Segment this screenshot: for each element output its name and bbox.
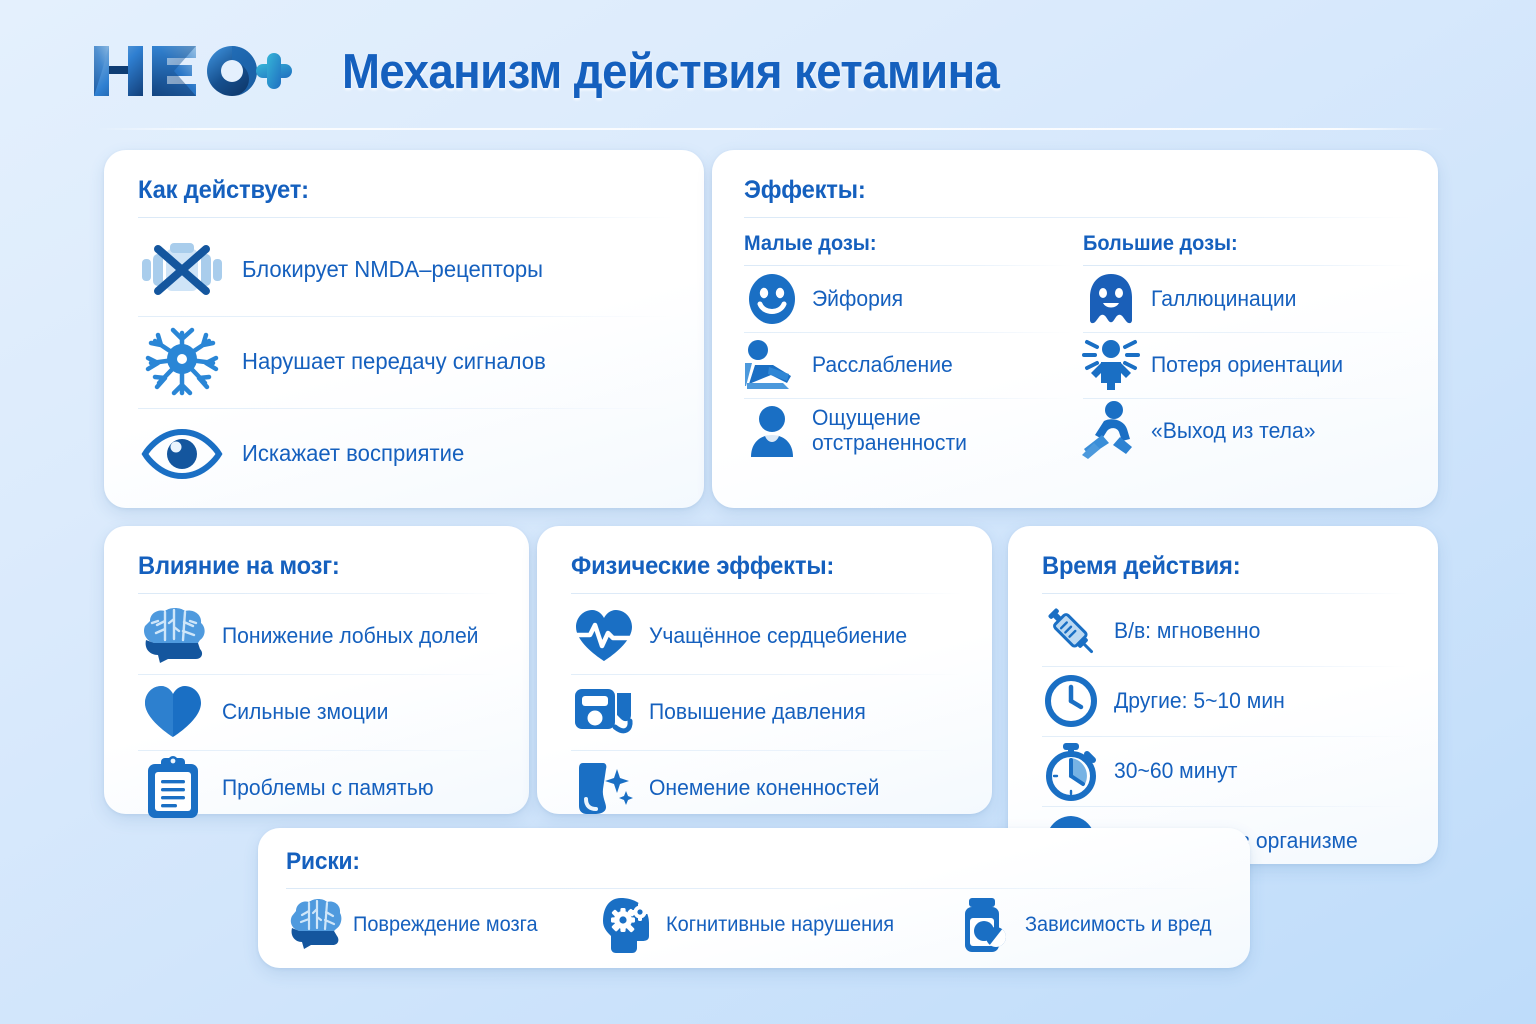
list-item-label: 30~60 минут	[1114, 759, 1237, 784]
divider	[138, 593, 499, 594]
list-item-label: Ощущение отстраненности	[812, 406, 967, 455]
card-risks: Риски: Повреждение мозга	[258, 828, 1250, 968]
list-item-label: Когнитивные нарушения	[666, 913, 894, 937]
brand-logo	[92, 40, 292, 102]
column-high-doses: Большие дозы: Галлюцинации	[1083, 232, 1412, 464]
person-silhouette-icon	[744, 403, 800, 459]
foot-tingling-icon	[571, 759, 637, 817]
list-item-label: Блокирует NMDA–рецепторы	[242, 257, 543, 283]
brain-damage-icon	[286, 897, 342, 953]
eye-icon	[138, 422, 226, 486]
list-item-label: Сильные змоции	[222, 700, 388, 725]
divider	[286, 888, 1224, 889]
neo-plus-logo-icon	[92, 40, 292, 102]
list-item: Сильные змоции	[138, 674, 499, 750]
list-item-label: «Выход из тела»	[1151, 419, 1315, 444]
card-title-effects: Эффекты:	[744, 176, 1379, 205]
card-title-duration: Время действия:	[1042, 552, 1390, 581]
list-item: Блокирует NMDA–рецепторы	[138, 224, 674, 316]
list-item: Ощущение отстраненности	[744, 398, 1073, 464]
list-item-label: Галлюцинации	[1151, 287, 1296, 312]
list-item: Повышение давления	[571, 674, 962, 750]
page-title: Механизм действия кетамина	[342, 44, 999, 100]
list-item: Проблемы с памятью	[138, 750, 499, 826]
person-floating-icon	[1083, 403, 1139, 459]
list-item-label: Повреждение мозга	[353, 913, 538, 937]
page-header: Механизм действия кетамина	[0, 0, 1536, 132]
column-heading-high-doses: Большие дозы:	[1083, 232, 1396, 256]
list-item: Зависимость и вред	[958, 897, 1221, 953]
divider	[1042, 593, 1408, 594]
card-brain-impact: Влияние на мозг: Понижение лобных долей	[104, 526, 529, 814]
list-item-label: Расслабление	[812, 353, 953, 378]
person-dizzy-icon	[1083, 337, 1139, 393]
pill-bottle-icon	[958, 897, 1014, 953]
smiley-face-icon	[744, 271, 800, 327]
column-low-doses: Малые дозы: Эйфория	[744, 232, 1073, 464]
card-title-risks: Риски:	[286, 848, 1177, 876]
clock-icon	[1042, 673, 1100, 729]
ghost-icon	[1083, 271, 1139, 327]
nmda-receptor-blocked-icon	[138, 238, 226, 302]
list-item: Онемение коненностей	[571, 750, 962, 826]
list-item-label: Эйфория	[812, 287, 903, 312]
blood-pressure-monitor-icon	[571, 683, 637, 741]
card-title-physical-effects: Физические эффекты:	[571, 552, 942, 581]
list-item: Потеря ориентации	[1083, 332, 1412, 398]
stopwatch-icon	[1042, 743, 1100, 799]
list-item: 30~60 минут	[1042, 736, 1408, 806]
list-item: Нарушает передачу сигналов	[138, 316, 674, 408]
card-duration: Время действия:	[1008, 526, 1438, 864]
syringe-icon	[1042, 603, 1100, 659]
column-heading-low-doses: Малые дозы:	[744, 232, 1057, 256]
list-item-label: Потеря ориентации	[1151, 353, 1343, 378]
list-item-label: Искажает восприятие	[242, 441, 464, 467]
list-item: Галлюцинации	[1083, 266, 1412, 332]
card-physical-effects: Физические эффекты: Учащённое сердцебиен…	[537, 526, 992, 814]
list-item: Расслабление	[744, 332, 1073, 398]
list-item: Повреждение мозга	[286, 897, 547, 953]
list-item-label: Другие: 5~10 мин	[1114, 689, 1285, 714]
list-item-label: Проблемы с памятью	[222, 776, 434, 801]
card-title-brain-impact: Влияние на мозг:	[138, 552, 481, 581]
divider	[571, 593, 962, 594]
list-item-label: Повышение давления	[649, 700, 866, 725]
list-item: «Выход из тела»	[1083, 398, 1412, 464]
list-item-label: Зависимость и вред	[1025, 913, 1212, 937]
list-item-label: Учащённое сердцебиение	[649, 624, 907, 649]
list-item: Искажает восприятие	[138, 408, 674, 500]
brain-icon	[138, 606, 208, 666]
header-divider	[96, 128, 1446, 130]
list-item: Понижение лобных долей	[138, 598, 499, 674]
heart-pulse-icon	[571, 607, 637, 665]
list-item-label: Онемение коненностей	[649, 776, 879, 801]
list-item: Учащённое сердцебиение	[571, 598, 962, 674]
clipboard-icon	[138, 758, 208, 818]
list-item: Эйфория	[744, 266, 1073, 332]
divider	[744, 217, 1412, 218]
list-item-label: Понижение лобных долей	[222, 624, 478, 649]
heart-icon	[138, 682, 208, 742]
person-reclining-icon	[744, 337, 800, 393]
list-item: В/в: мгновенно	[1042, 596, 1408, 666]
head-gears-icon	[599, 897, 655, 953]
list-item-label: Нарушает передачу сигналов	[242, 349, 546, 375]
divider	[138, 217, 674, 218]
card-how-it-works: Как действует:	[104, 150, 704, 508]
card-title-how-it-works: Как действует:	[138, 176, 647, 205]
list-item-label: В/в: мгновенно	[1114, 619, 1260, 644]
list-item: Когнитивные нарушения	[599, 897, 906, 953]
neuron-icon	[138, 330, 226, 394]
list-item: Другие: 5~10 мин	[1042, 666, 1408, 736]
card-effects: Эффекты: Малые дозы: Эйфория	[712, 150, 1438, 508]
